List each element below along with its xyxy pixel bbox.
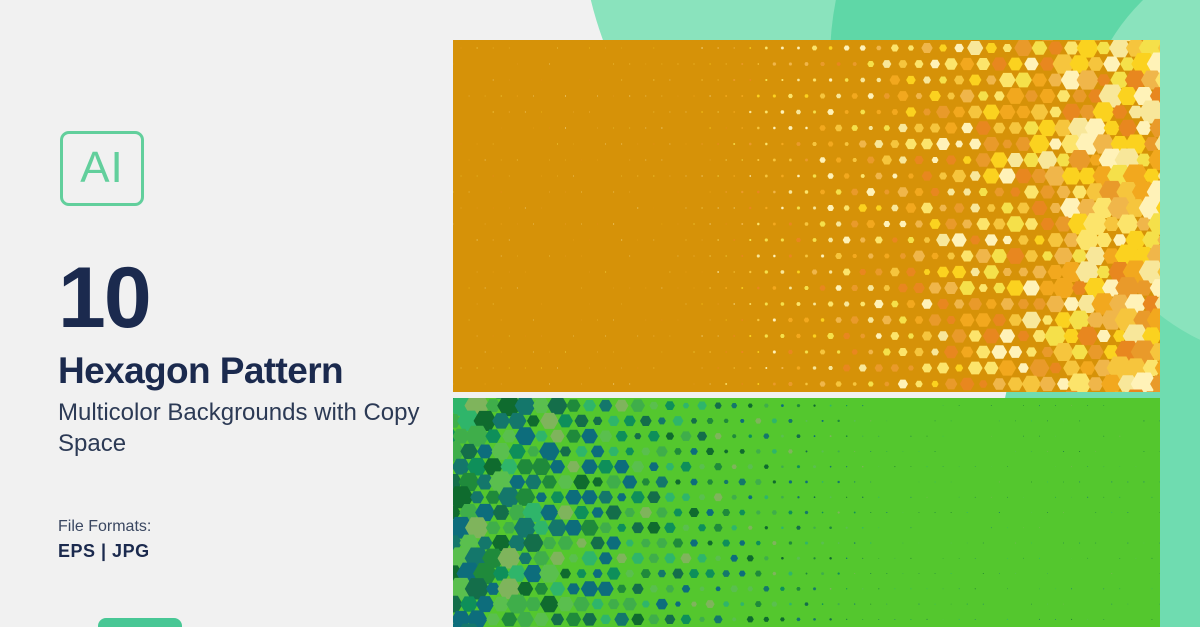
green-hexagon-preview[interactable] (453, 398, 1160, 627)
file-formats-value: EPS | JPG (58, 541, 150, 562)
orange-hexagon-preview[interactable] (453, 40, 1160, 392)
page-subtitle: Multicolor Backgrounds with Copy Space (58, 398, 438, 459)
file-formats-label: File Formats: (58, 518, 151, 536)
cta-button[interactable] (98, 618, 182, 627)
ai-badge-label: AI (80, 146, 124, 190)
item-count: 10 (58, 255, 150, 341)
preview-canvas: AI 10 Hexagon Pattern Multicolor Backgro… (0, 0, 1200, 627)
green-hexagon-pattern (453, 398, 1160, 627)
ai-file-badge: AI (60, 131, 144, 206)
orange-hexagon-pattern (453, 40, 1160, 392)
info-panel: AI 10 Hexagon Pattern Multicolor Backgro… (0, 0, 453, 627)
page-title: Hexagon Pattern (58, 352, 343, 391)
